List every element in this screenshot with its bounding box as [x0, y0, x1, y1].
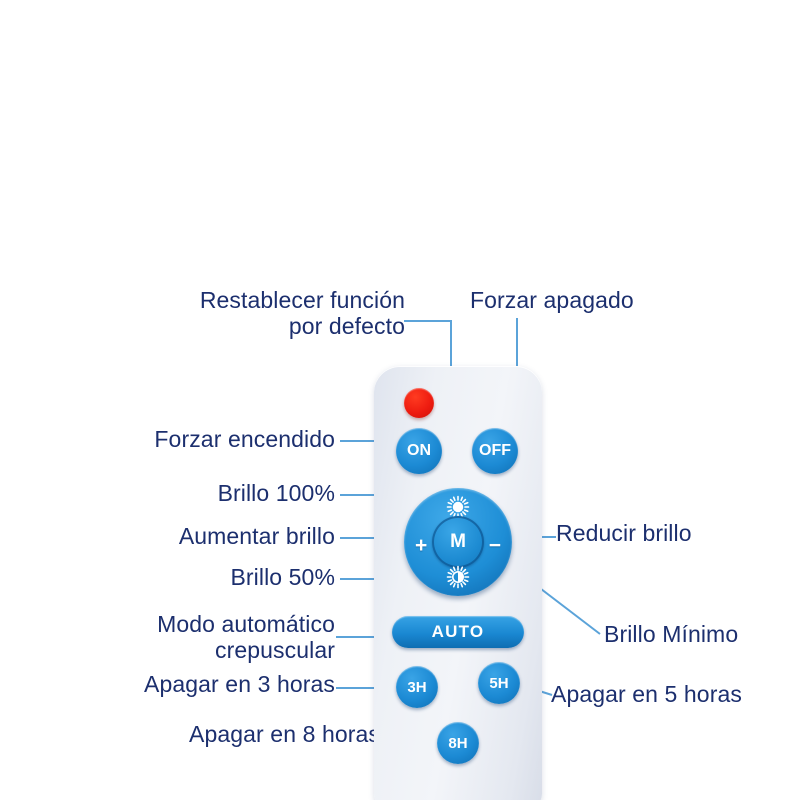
mode-button[interactable]: M	[432, 516, 484, 568]
on-button[interactable]: ON	[396, 428, 442, 474]
timer-3h-button[interactable]: 3H	[396, 666, 438, 708]
remote-control-body: ON OFF	[374, 366, 542, 800]
decrease-brightness-button[interactable]: −	[489, 535, 501, 556]
figure-canvas: Restablecer función por defecto Forzar a…	[0, 0, 800, 800]
brightness-50-icon[interactable]	[446, 565, 470, 589]
reset-default-button[interactable]	[404, 388, 434, 418]
off-button[interactable]: OFF	[472, 428, 518, 474]
increase-brightness-button[interactable]: +	[415, 535, 427, 556]
timer-8h-button[interactable]: 8H	[437, 722, 479, 764]
brightness-pad[interactable]: + − M	[404, 488, 512, 596]
timer-5h-button[interactable]: 5H	[478, 662, 520, 704]
auto-button[interactable]: AUTO	[392, 616, 524, 648]
